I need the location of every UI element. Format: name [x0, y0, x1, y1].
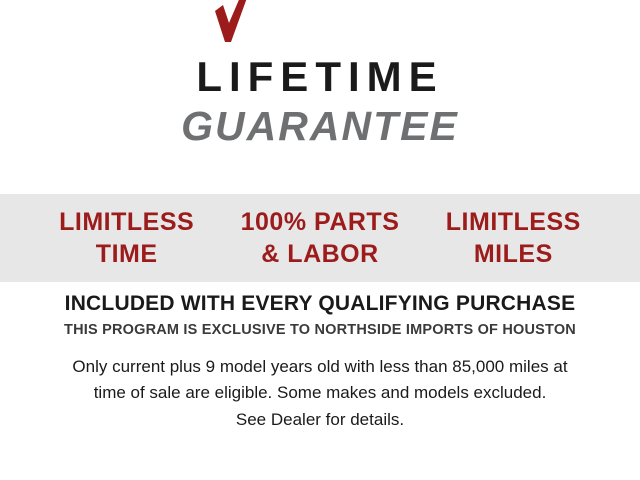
feature-parts-labor: 100% PARTS & LABOR	[223, 206, 416, 270]
fineprint-line-1: Only current plus 9 model years old with…	[40, 354, 600, 380]
features-band: LIMITLESS TIME 100% PARTS & LABOR LIMITL…	[0, 194, 640, 282]
feature-limitless-miles: LIMITLESS MILES	[417, 206, 610, 270]
lifetime-guarantee-card: LIFETIME GUARANTEE LIMITLESS TIME 100% P…	[0, 0, 640, 480]
fineprint-line-2: time of sale are eligible. Some makes an…	[40, 380, 600, 406]
fineprint-line-3: See Dealer for details.	[40, 407, 600, 433]
logo-title-lifetime: LIFETIME	[196, 56, 443, 98]
feature-limitless-miles-line1: LIMITLESS	[446, 208, 581, 236]
fineprint-text: Only current plus 9 model years old with…	[40, 354, 600, 433]
body-block: INCLUDED WITH EVERY QUALIFYING PURCHASE …	[0, 292, 640, 433]
checkmark-icon	[213, 0, 253, 43]
feature-limitless-time: LIMITLESS TIME	[30, 206, 223, 270]
logo-title-guarantee: GUARANTEE	[0, 106, 640, 147]
feature-parts-labor-line2: & LABOR	[223, 238, 416, 270]
subline-text: THIS PROGRAM IS EXCLUSIVE TO NORTHSIDE I…	[0, 322, 640, 338]
headline-text: INCLUDED WITH EVERY QUALIFYING PURCHASE	[0, 292, 640, 316]
feature-limitless-time-line1: LIMITLESS	[59, 208, 194, 236]
feature-limitless-time-line2: TIME	[30, 238, 223, 270]
logo-block: LIFETIME GUARANTEE	[0, 0, 640, 147]
feature-parts-labor-line1: 100% PARTS	[241, 208, 400, 236]
feature-limitless-miles-line2: MILES	[417, 238, 610, 270]
